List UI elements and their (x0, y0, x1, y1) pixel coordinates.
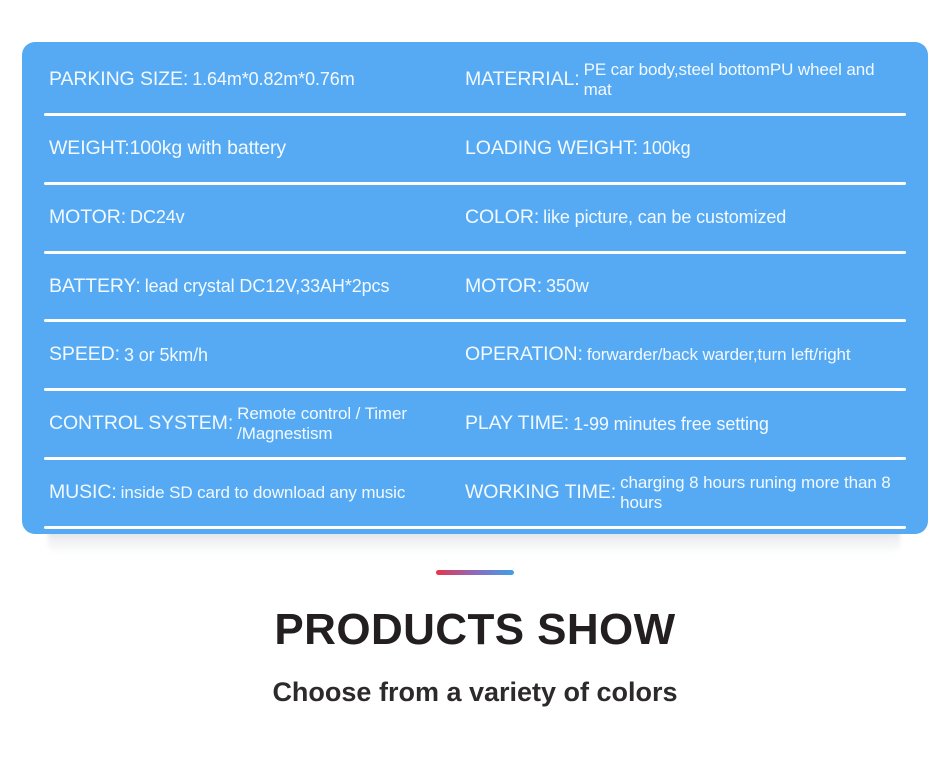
spec-label: CONTROL SYSTEM: (49, 413, 233, 435)
table-row: WEIGHT:100kg with battery LOADING WEIGHT… (44, 116, 906, 185)
products-show-section: PRODUCTS SHOW Choose from a variety of c… (0, 556, 950, 708)
spec-cell-motor-voltage: MOTOR: DC24v (44, 185, 465, 254)
spec-value: 3 or 5km/h (120, 345, 465, 366)
table-row: MUSIC: inside SD card to download any mu… (44, 460, 906, 529)
page-title: PRODUCTS SHOW (0, 605, 950, 655)
spec-value: forwarder/back warder,turn left/right (583, 345, 906, 365)
spec-value: PE car body,steel bottomPU wheel and mat (580, 60, 906, 100)
spec-label: WEIGHT:100kg with battery (49, 138, 286, 160)
spec-value: 1-99 minutes free setting (569, 414, 906, 435)
spec-label: BATTERY: (49, 276, 141, 298)
spec-label: MUSIC: (49, 482, 117, 504)
spec-label: LOADING WEIGHT: (465, 138, 638, 160)
spec-label: MOTOR: (49, 207, 126, 229)
spec-label: PARKING SIZE: (49, 69, 188, 91)
spec-value: charging 8 hours runing more than 8 hour… (616, 473, 906, 513)
table-row: BATTERY: lead crystal DC12V,33AH*2pcs MO… (44, 254, 906, 323)
spec-cell-control-system: CONTROL SYSTEM: Remote control / Timer /… (44, 391, 465, 460)
page-subtitle: Choose from a variety of colors (0, 677, 950, 708)
spec-value: Remote control / Timer /Magnestism (233, 404, 465, 444)
spec-cell-play-time: PLAY TIME: 1-99 minutes free setting (465, 391, 906, 460)
spec-value: lead crystal DC12V,33AH*2pcs (141, 276, 465, 297)
page-root: PARKING SIZE: 1.64m*0.82m*0.76m MATERRIA… (0, 0, 950, 764)
spec-cell-weight: WEIGHT:100kg with battery (44, 116, 465, 185)
spec-value: 1.64m*0.82m*0.76m (188, 69, 465, 90)
spec-cell-operation: OPERATION: forwarder/back warder,turn le… (465, 322, 906, 391)
spec-label: OPERATION: (465, 344, 583, 366)
table-row: PARKING SIZE: 1.64m*0.82m*0.76m MATERRIA… (44, 47, 906, 116)
spec-cell-working-time: WORKING TIME: charging 8 hours runing mo… (465, 460, 906, 529)
table-row: SPEED: 3 or 5km/h OPERATION: forwarder/b… (44, 322, 906, 391)
spec-value: 100kg (638, 138, 906, 159)
spec-value: 350w (542, 276, 906, 297)
spec-cell-battery: BATTERY: lead crystal DC12V,33AH*2pcs (44, 254, 465, 323)
spec-cell-loading-weight: LOADING WEIGHT: 100kg (465, 116, 906, 185)
table-row: CONTROL SYSTEM: Remote control / Timer /… (44, 391, 906, 460)
spec-label: MOTOR: (465, 276, 542, 298)
spec-label: SPEED: (49, 344, 120, 366)
table-row: MOTOR: DC24v COLOR: like picture, can be… (44, 185, 906, 254)
spec-cell-motor-power: MOTOR: 350w (465, 254, 906, 323)
spec-value: DC24v (126, 207, 465, 228)
specification-table: PARKING SIZE: 1.64m*0.82m*0.76m MATERRIA… (44, 42, 906, 534)
spec-label: MATERRIAL: (465, 69, 580, 91)
spec-label: WORKING TIME: (465, 482, 616, 504)
specification-card: PARKING SIZE: 1.64m*0.82m*0.76m MATERRIA… (22, 42, 928, 534)
spec-value: inside SD card to download any music (117, 483, 465, 503)
spec-cell-speed: SPEED: 3 or 5km/h (44, 322, 465, 391)
spec-cell-parking-size: PARKING SIZE: 1.64m*0.82m*0.76m (44, 47, 465, 116)
spec-label: PLAY TIME: (465, 413, 569, 435)
spec-cell-color: COLOR: like picture, can be customized (465, 185, 906, 254)
spec-value: like picture, can be customized (539, 207, 906, 228)
spec-cell-material: MATERRIAL: PE car body,steel bottomPU wh… (465, 47, 906, 116)
spec-cell-music: MUSIC: inside SD card to download any mu… (44, 460, 465, 529)
spec-label: COLOR: (465, 207, 539, 229)
gradient-divider (436, 570, 514, 575)
row-separator (44, 526, 906, 529)
